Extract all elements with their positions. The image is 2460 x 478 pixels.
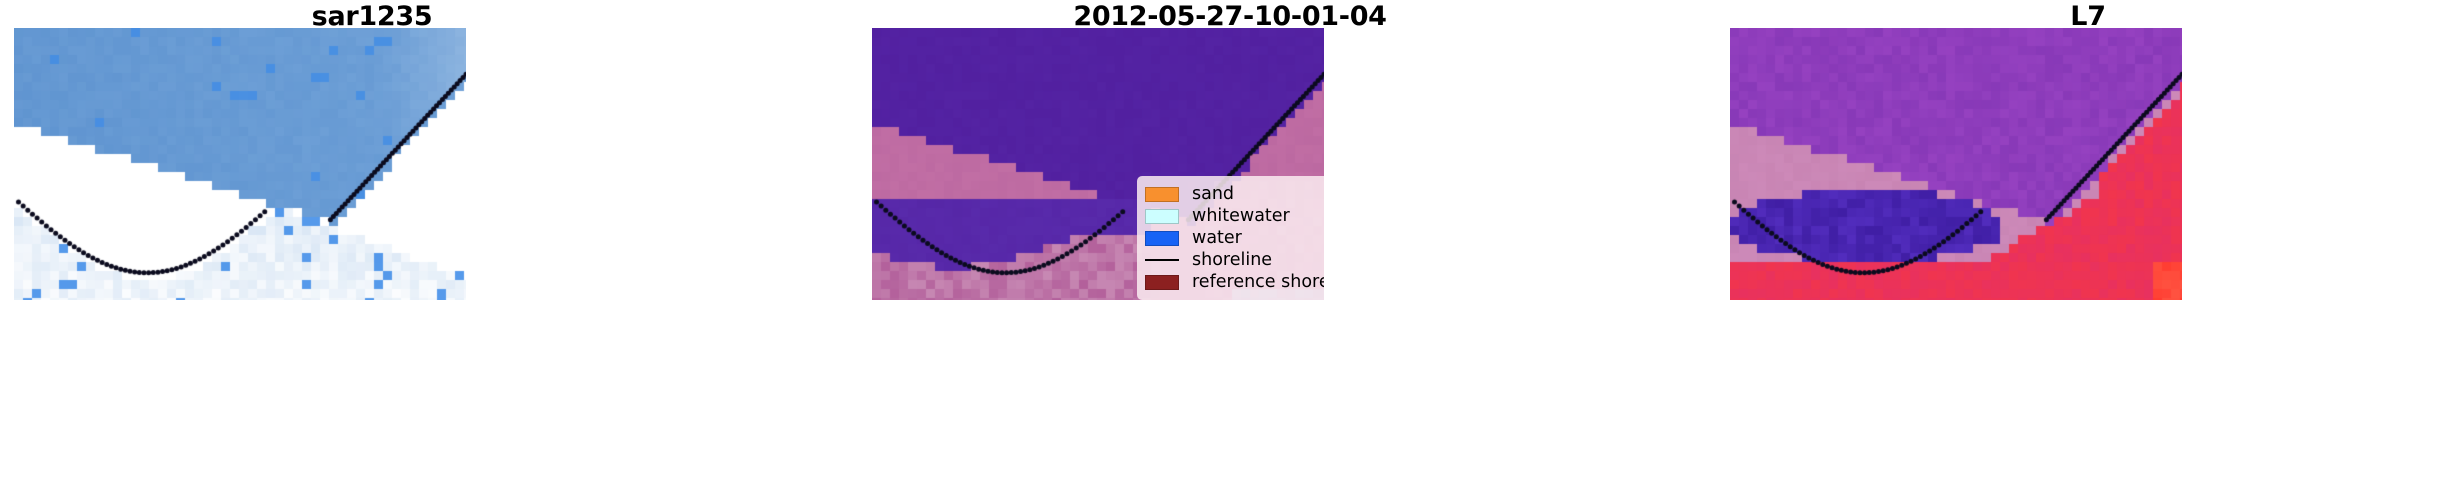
raster-l7 <box>1730 28 2182 300</box>
legend-swatch-icon <box>1145 187 1179 202</box>
panel-date: 2012-05-27-10-01-04 sandwhitewaterwaters… <box>872 0 1588 478</box>
legend[interactable]: sandwhitewaterwatershorelinereference sh… <box>1137 176 1324 300</box>
legend-item-whitewater[interactable]: whitewater <box>1145 205 1324 227</box>
legend-swatch-icon <box>1145 231 1179 246</box>
legend-line-icon <box>1145 259 1179 261</box>
legend-item-shoreline[interactable]: shoreline <box>1145 249 1324 271</box>
legend-item-water[interactable]: water <box>1145 227 1324 249</box>
panel-sar: sar1235 <box>14 0 730 478</box>
legend-item-reference-shoreline-buffer[interactable]: reference shoreline buffer <box>1145 271 1324 293</box>
legend-label: shoreline <box>1192 249 1272 271</box>
legend-item-sand[interactable]: sand <box>1145 183 1324 205</box>
legend-label: reference shoreline buffer <box>1192 271 1324 293</box>
legend-swatch-icon <box>1145 209 1179 224</box>
legend-swatch-icon <box>1145 275 1179 290</box>
figure-root: sar1235 2012-05-27-10-01-04 sandwhitewat… <box>0 0 2460 478</box>
image-axes-l7[interactable] <box>1730 28 2182 300</box>
image-axes-sar[interactable] <box>14 28 466 300</box>
raster-sar <box>14 28 466 300</box>
panel-l7: L7 <box>1730 0 2446 478</box>
legend-label: sand <box>1192 183 1234 205</box>
legend-label: whitewater <box>1192 205 1290 227</box>
image-axes-date[interactable]: sandwhitewaterwatershorelinereference sh… <box>872 28 1324 300</box>
legend-label: water <box>1192 227 1242 249</box>
